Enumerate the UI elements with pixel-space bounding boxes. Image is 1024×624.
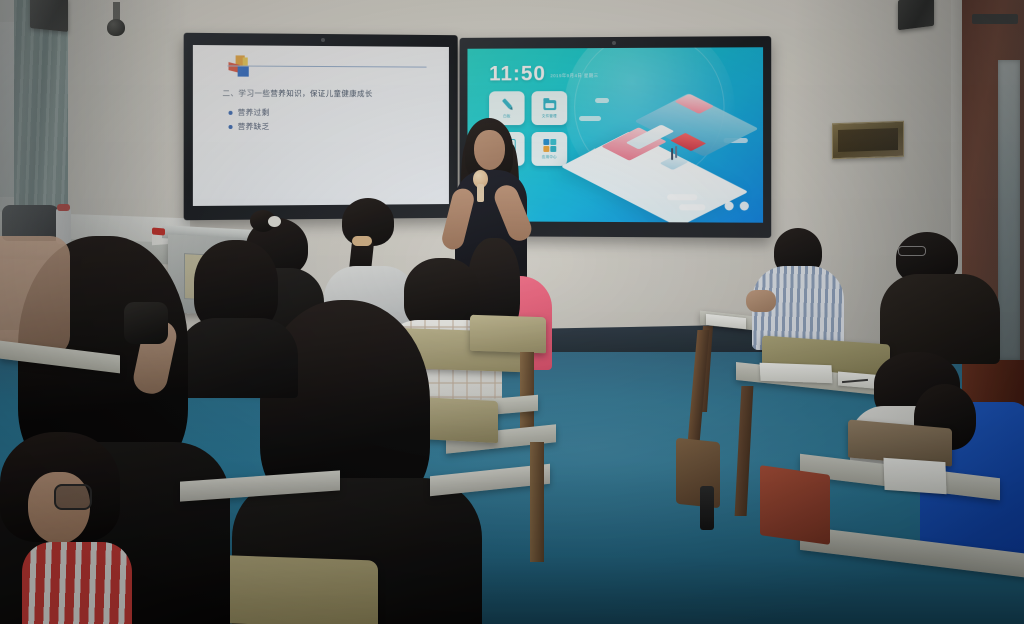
display-left-camera-icon [321, 38, 325, 42]
attendee-striped-blouse [752, 228, 844, 348]
glasses-icon [54, 484, 92, 510]
slide-title: 二、学习一些营养知识，保证儿童健康成长 [222, 88, 421, 100]
microphone-handle [477, 184, 484, 202]
red-object-on-cabinet [152, 228, 165, 236]
iso-bar [679, 204, 705, 210]
held-object [124, 302, 168, 344]
display-left[interactable]: 二、学习一些营养知识，保证儿童健康成长 营养过剩 营养缺乏 [184, 33, 458, 220]
settings-dot-button[interactable] [740, 201, 749, 210]
attendee-with-glasses-red-stripes [0, 432, 150, 624]
clock-readout: 11:50 [489, 62, 546, 86]
attendee-arm-far-left [0, 236, 70, 356]
apps-grid-icon [542, 138, 557, 153]
iso-cloud [595, 98, 609, 103]
attendee-arm [746, 290, 776, 312]
iso-pen [675, 146, 677, 158]
hair-clip [268, 216, 281, 227]
slide-bullet-item: 营养过剩 [229, 106, 441, 120]
red-bag[interactable] [760, 465, 830, 545]
glasses-icon [898, 246, 926, 256]
iso-bar [667, 194, 697, 200]
isometric-illustration [575, 90, 751, 216]
display-right-camera-icon [612, 41, 616, 45]
attendee-dark-top-glasses [880, 232, 1000, 362]
home-dot-button[interactable] [725, 201, 734, 210]
open-book[interactable] [883, 458, 946, 494]
attendee-torso [22, 542, 132, 624]
slide-divider [227, 65, 426, 67]
home-corner-buttons[interactable] [725, 201, 749, 210]
classroom-photo: 二、学习一些营养知识，保证儿童健康成长 营养过剩 营养缺乏 11:50 2019… [0, 0, 1024, 624]
slide-bullet-item: 营养缺乏 [229, 120, 441, 134]
display-left-panel: 二、学习一些营养知识，保证儿童健康成长 营养过剩 营养缺乏 [193, 45, 449, 206]
tile-label: 文件管理 [542, 114, 557, 119]
presentation-slide: 二、学习一些营养知识，保证儿童健康成长 营养过剩 营养缺乏 [193, 45, 449, 206]
attendee-torso [880, 274, 1000, 364]
open-notebook[interactable] [760, 363, 833, 384]
presenter-face [474, 130, 505, 170]
pen-icon [496, 94, 517, 115]
desk-leg [530, 442, 544, 562]
date-readout: 2019年9月4日 星期三 [550, 73, 598, 79]
folder-icon [542, 97, 557, 112]
slide-bullet-list: 营养过剩 营养缺乏 [229, 106, 441, 134]
iso-pen [671, 148, 673, 160]
water-bottle-under-desk[interactable] [700, 486, 714, 530]
tile-label: 应用中心 [542, 155, 557, 160]
hair-tie [352, 236, 372, 246]
iso-cloud [579, 116, 601, 121]
